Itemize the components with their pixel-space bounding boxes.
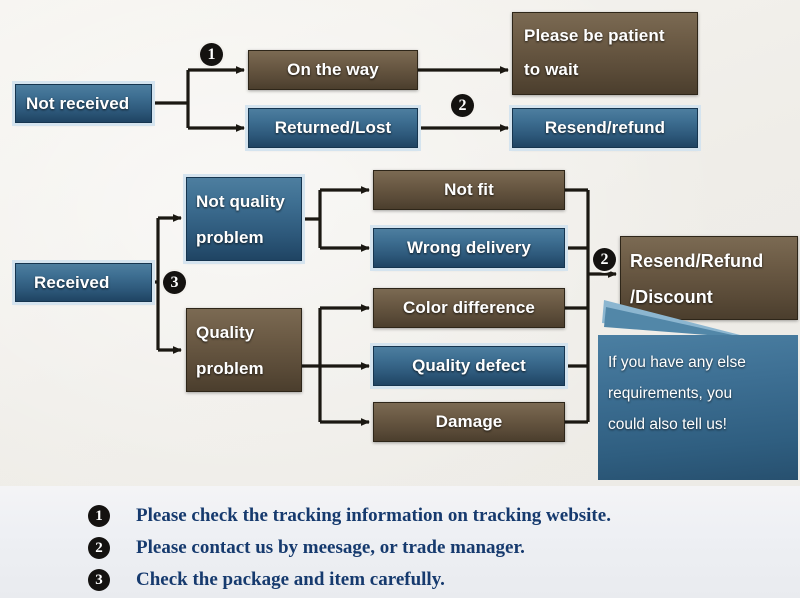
badge-step-2-top: 2 xyxy=(451,94,474,117)
legend-panel: 1 Please check the tracking information … xyxy=(0,486,800,598)
flowchart-canvas: Not received On the way Returned/Lost Pl… xyxy=(0,0,800,598)
node-resend-refund[interactable]: Resend/refund xyxy=(512,108,698,148)
node-resend-refund-discount[interactable]: Resend/Refund /Discount xyxy=(620,236,798,320)
legend-badge-1: 1 xyxy=(88,505,110,527)
badge-step-3: 3 xyxy=(163,271,186,294)
legend-text-2: Please contact us by meesage, or trade m… xyxy=(136,537,525,559)
node-quality-defect[interactable]: Quality defect xyxy=(373,346,565,386)
badge-step-1-top: 1 xyxy=(200,43,223,66)
legend-item: 2 Please contact us by meesage, or trade… xyxy=(88,533,525,562)
node-quality-problem[interactable]: Quality problem xyxy=(186,308,302,392)
node-not-fit[interactable]: Not fit xyxy=(373,170,565,210)
legend-badge-3: 3 xyxy=(88,569,110,591)
legend-text-1: Please check the tracking information on… xyxy=(136,505,611,527)
node-damage[interactable]: Damage xyxy=(373,402,565,442)
node-not-received[interactable]: Not received xyxy=(15,84,152,123)
legend-item: 1 Please check the tracking information … xyxy=(88,501,611,530)
node-wrong-delivery[interactable]: Wrong delivery xyxy=(373,228,565,268)
node-on-the-way[interactable]: On the way xyxy=(248,50,418,90)
node-not-quality-problem[interactable]: Not quality problem xyxy=(186,177,302,261)
legend-badge-2: 2 xyxy=(88,537,110,559)
node-returned-lost[interactable]: Returned/Lost xyxy=(248,108,418,148)
badge-step-2-bottom: 2 xyxy=(593,248,616,271)
node-please-be-patient[interactable]: Please be patient to wait xyxy=(512,12,698,95)
node-color-difference[interactable]: Color difference xyxy=(373,288,565,328)
legend-item: 3 Check the package and item carefully. xyxy=(88,565,445,594)
callout-bubble: If you have any else requirements, you c… xyxy=(598,335,798,480)
node-received[interactable]: Received xyxy=(15,263,152,302)
legend-text-3: Check the package and item carefully. xyxy=(136,569,445,591)
